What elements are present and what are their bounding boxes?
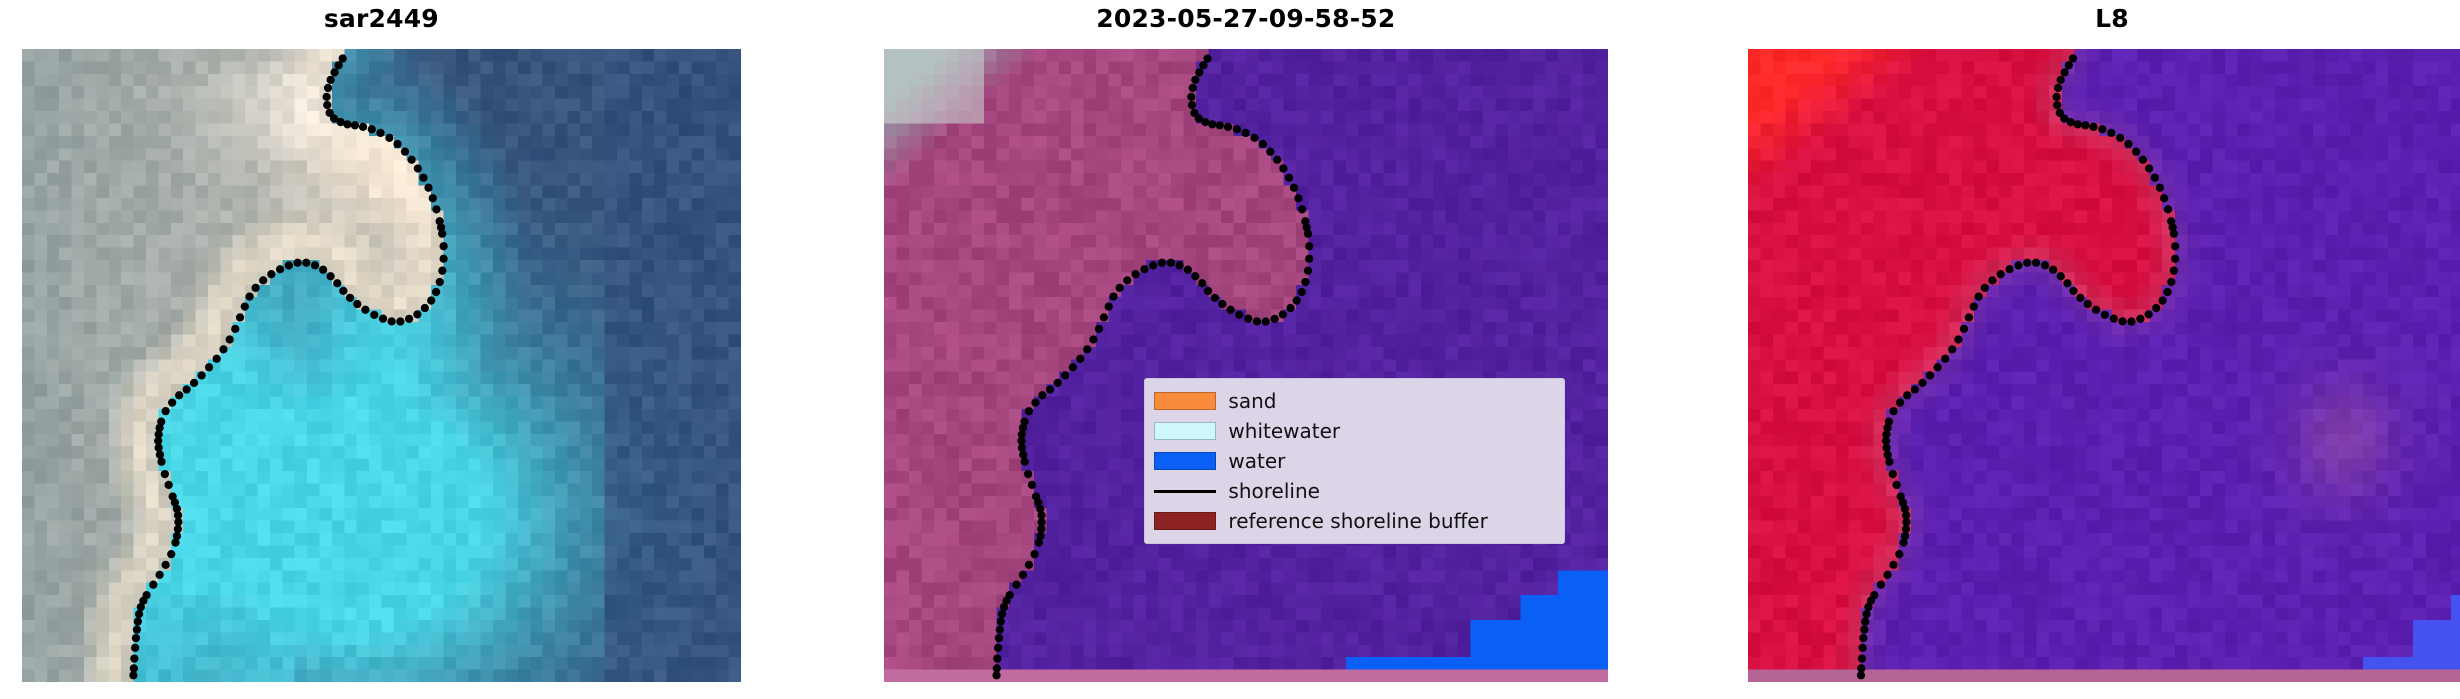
legend-swatch-water [1154,452,1216,470]
legend-label-sand: sand [1228,391,1276,411]
axes-sar2449[interactable] [22,49,740,681]
axes-date[interactable]: sand whitewater water shoreline referenc… [884,49,1609,681]
legend-label-whitewater: whitewater [1228,421,1340,441]
panel-l8: L8 [1748,0,2460,699]
legend-swatch-shoreline [1154,482,1216,500]
legend-item-sand: sand [1154,386,1554,416]
figure-root: sar2449 2023-05-27-09-58-52 sand [0,0,2460,699]
shoreline-overlay-l8 [1748,49,2460,681]
shoreline-overlay-sar2449 [22,49,740,681]
legend-label-reference-shoreline-buffer: reference shoreline buffer [1228,511,1487,531]
legend-swatch-whitewater [1154,422,1216,440]
map-legend[interactable]: sand whitewater water shoreline referenc… [1144,378,1564,544]
panel-2023-05-27-09-58-52: 2023-05-27-09-58-52 sand whitewater wate… [884,0,1609,699]
legend-swatch-reference-shoreline-buffer [1154,512,1216,530]
panel-sar2449: sar2449 [22,0,740,699]
legend-item-whitewater: whitewater [1154,416,1554,446]
legend-item-water: water [1154,446,1554,476]
legend-item-shoreline: shoreline [1154,476,1554,506]
axes-l8[interactable] [1748,49,2460,681]
panel-title-sar2449: sar2449 [22,5,740,33]
panel-title-l8: L8 [1748,5,2460,33]
legend-swatch-sand [1154,392,1216,410]
legend-item-reference-shoreline-buffer: reference shoreline buffer [1154,506,1554,536]
shoreline-overlay-date [884,49,1609,681]
panel-title-date: 2023-05-27-09-58-52 [884,5,1609,33]
legend-label-shoreline: shoreline [1228,481,1320,501]
legend-label-water: water [1228,451,1285,471]
